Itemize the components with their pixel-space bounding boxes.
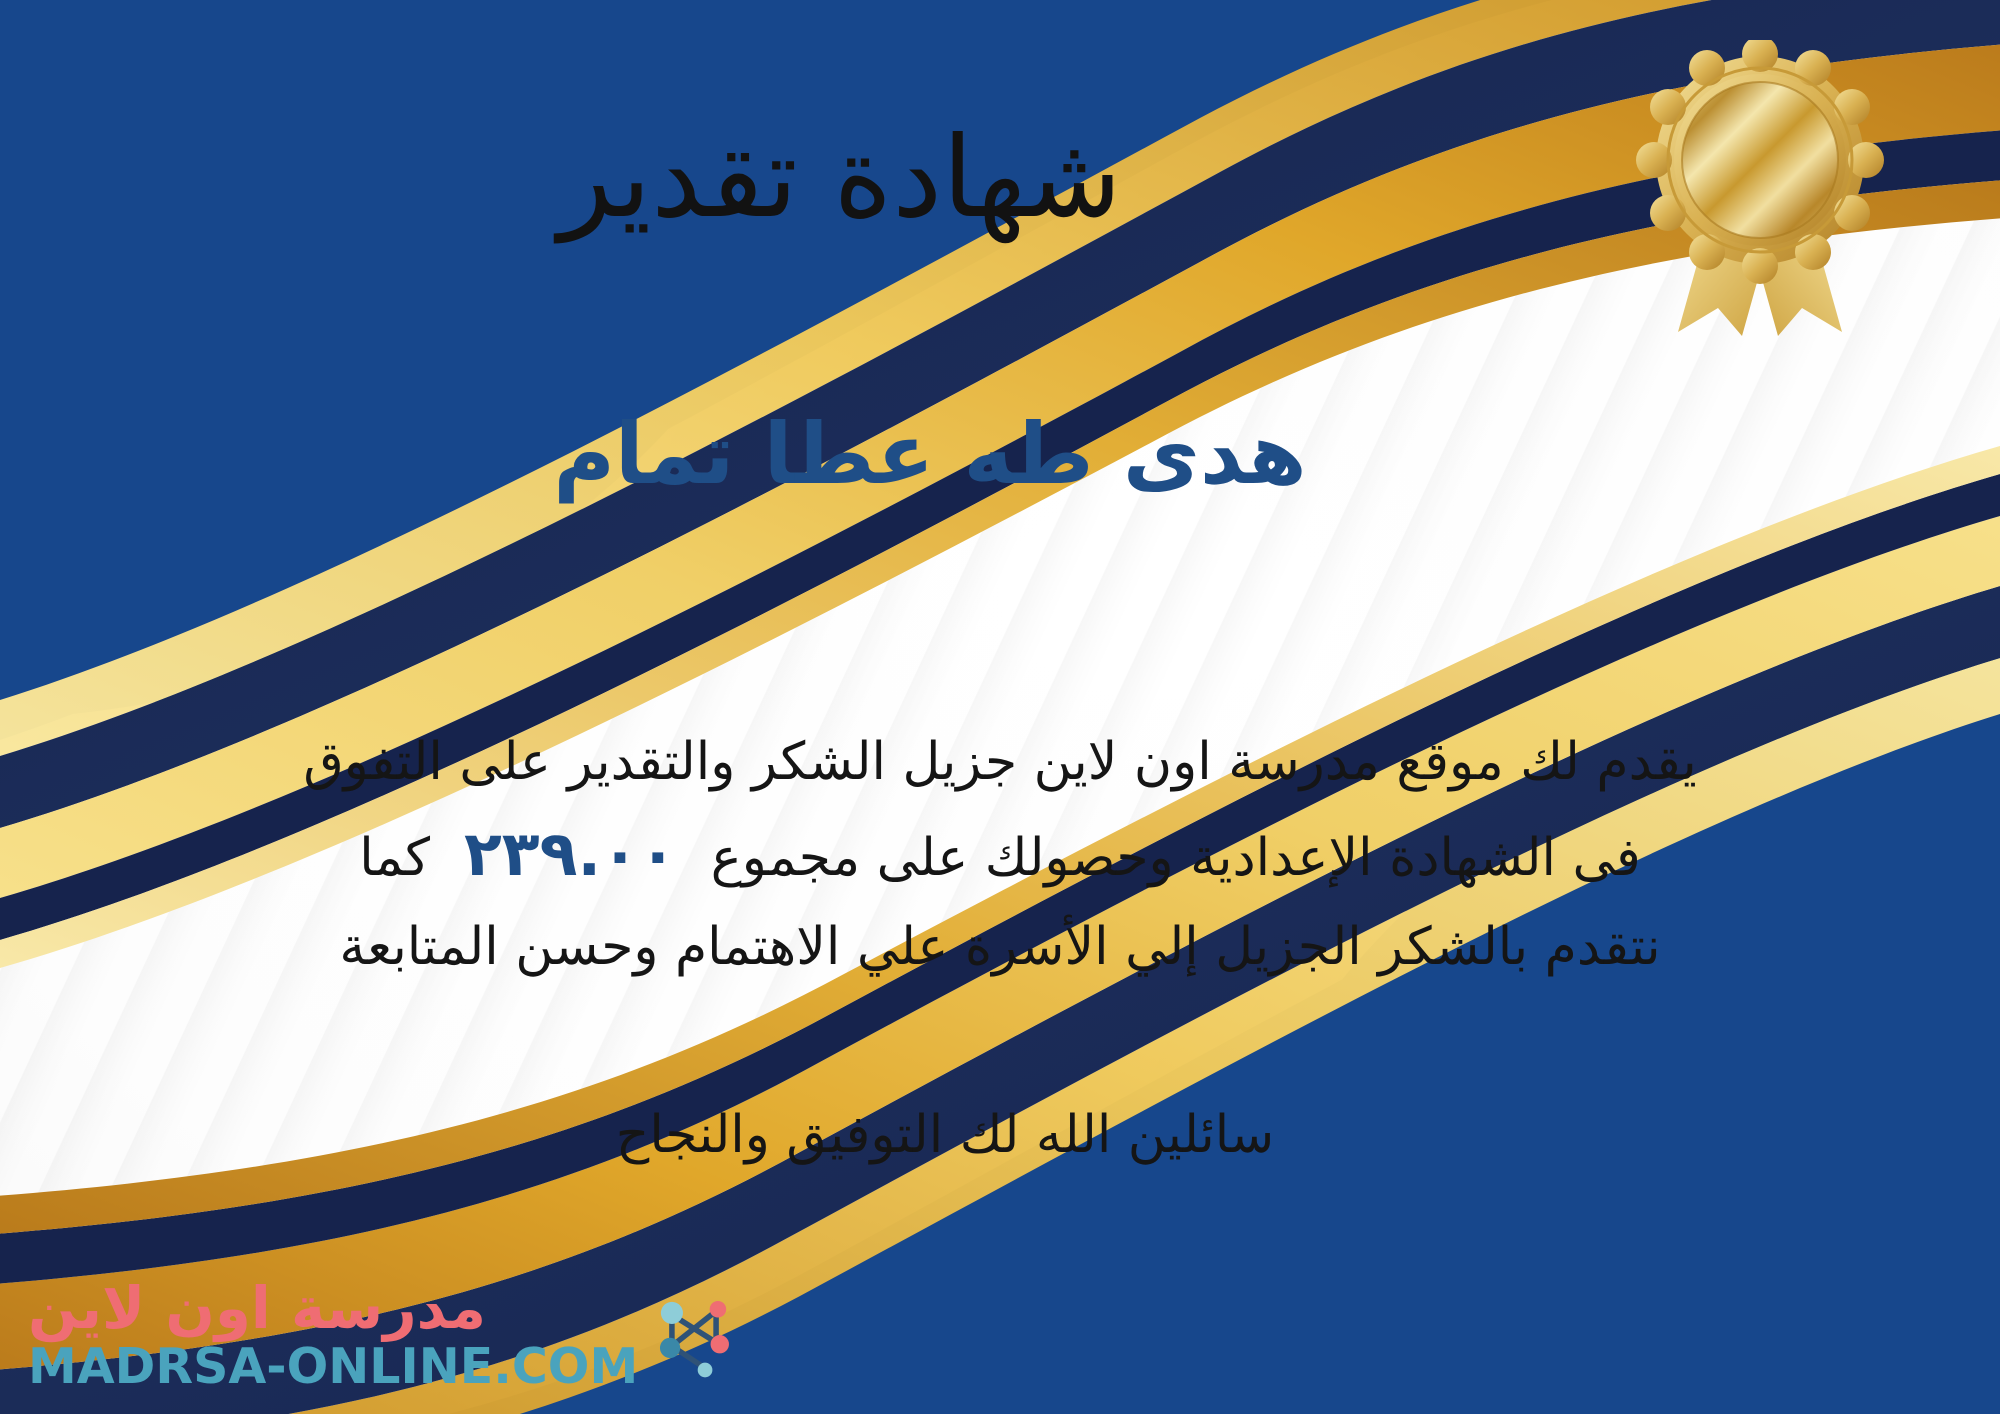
site-logo[interactable]: مدرسة اون لاين MADRSA-ONLINE.COM: [28, 1278, 740, 1392]
certificate-title: شهادة تقدير: [0, 118, 2000, 239]
body-line-1: يقدم لك موقع مدرسة اون لاين جزيل الشكر و…: [60, 720, 1940, 804]
logo-arabic-name: مدرسة اون لاين: [28, 1278, 486, 1339]
body-line-2-suffix: كما: [359, 828, 430, 888]
certificate-content: شهادة تقدير هدى طه عطا تمام يقدم لك موقع…: [0, 0, 2000, 1414]
body-line-2-prefix: فى الشهادة الإعدادية وحصولك على مجموع: [711, 828, 1641, 888]
certificate-body-text: يقدم لك موقع مدرسة اون لاين جزيل الشكر و…: [60, 720, 1940, 989]
body-line-2: فى الشهادة الإعدادية وحصولك على مجموع٢٣٩…: [60, 804, 1940, 904]
body-line-3: نتقدم بالشكر الجزيل إلي الأسرة علي الاهت…: [60, 905, 1940, 989]
logo-website-url: MADRSA-ONLINE.COM: [28, 1341, 638, 1392]
total-score-value: ٢٣٩.٠٠: [430, 817, 711, 890]
recipient-name: هدى طه عطا تمام: [0, 408, 2000, 500]
closing-wish-text: سائلين الله لك التوفيق والنجاح: [0, 1105, 2000, 1165]
network-nodes-icon: [648, 1289, 740, 1381]
certificate-canvas: شهادة تقدير هدى طه عطا تمام يقدم لك موقع…: [0, 0, 2000, 1414]
logo-text-group: مدرسة اون لاين MADRSA-ONLINE.COM: [28, 1278, 638, 1392]
